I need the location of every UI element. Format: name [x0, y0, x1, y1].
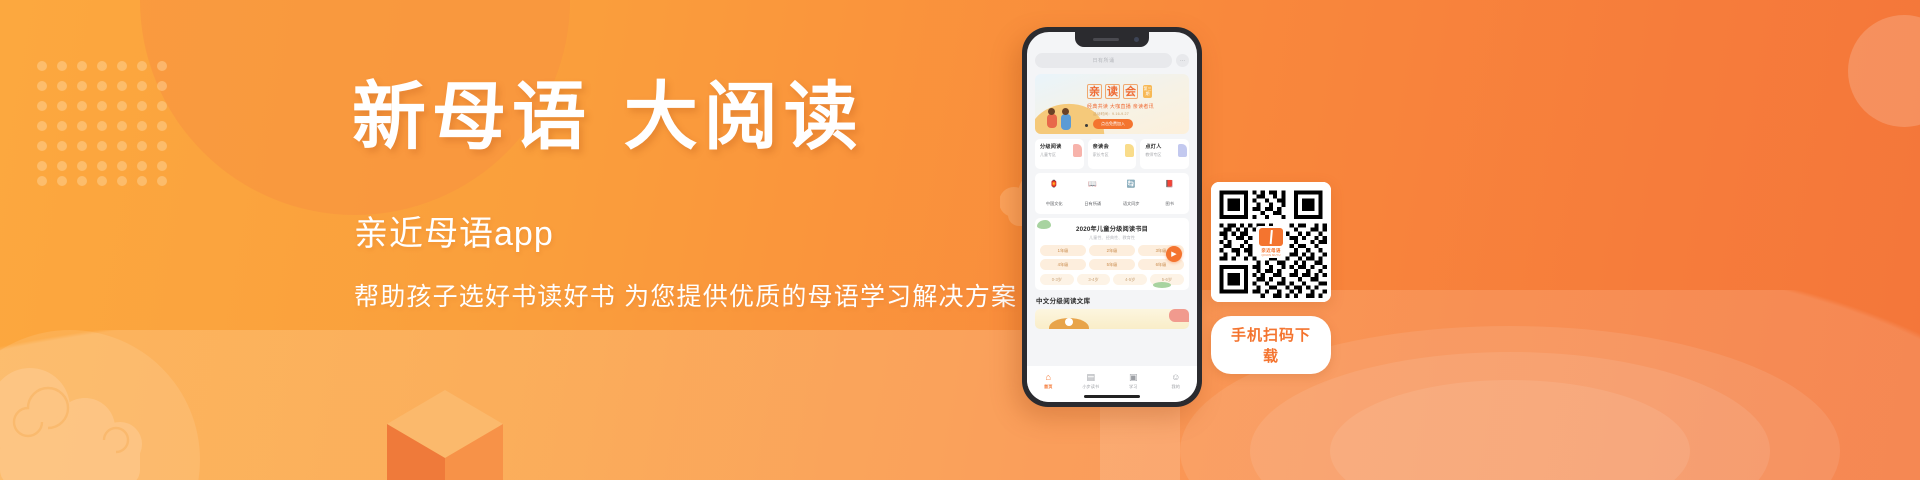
- search-input[interactable]: 日有所诵: [1035, 53, 1172, 68]
- books-icon: 📕: [1164, 178, 1176, 190]
- quick-link-label: 语文同步: [1123, 201, 1140, 206]
- promo-child2-illustration: [1061, 114, 1071, 130]
- tab-profile[interactable]: ☺ 我的: [1155, 372, 1198, 390]
- category-cards: 分级阅读 儿童专区 亲读会 家长专区 点灯人 教师专区: [1035, 139, 1189, 169]
- promo-title: 亲 读 会 第三期: [1087, 84, 1152, 99]
- promo-child2-head: [1062, 108, 1069, 115]
- decorative-cube: [385, 380, 505, 480]
- qr-block: 亲近母语 QINJIN MUYU 手机扫码下载: [1211, 182, 1331, 374]
- quick-link-label: 图书: [1166, 201, 1174, 206]
- decorative-circle-top-right: [1848, 15, 1920, 127]
- tab-reading[interactable]: ▤ 小步读书: [1070, 372, 1113, 390]
- leaf-decoration-icon-2: [1153, 282, 1171, 288]
- lantern-icon: 🏮: [1048, 178, 1060, 190]
- category-card-parent-club[interactable]: 亲读会 家长专区: [1088, 139, 1137, 169]
- clipboard-icon: ▣: [1112, 372, 1155, 383]
- booklist-title: 2020年儿童分级阅读书目: [1040, 224, 1184, 233]
- open-book-icon: [1259, 228, 1283, 246]
- quick-link-label: 日有所诵: [1084, 201, 1101, 206]
- quick-link-row: 🏮 中国文化 📖 日有所诵 🔄 语文同步 📕 图书: [1035, 173, 1189, 214]
- download-button[interactable]: 手机扫码下载: [1211, 316, 1331, 374]
- promo-join-button[interactable]: 点击免费加入: [1093, 119, 1133, 129]
- tab-label: 小步读书: [1070, 384, 1113, 390]
- category-card-graded-reading[interactable]: 分级阅读 儿童专区: [1035, 139, 1084, 169]
- age-chip[interactable]: 0-3岁: [1040, 274, 1074, 285]
- quick-link-daily-recitation[interactable]: 📖 日有所诵: [1074, 178, 1113, 210]
- copy-block: 新母语 大阅读 亲近母语app 帮助孩子选好书读好书 为您提供优质的母语学习解决…: [352, 78, 1052, 313]
- promo-ribbon-badge: 第三期: [1143, 85, 1152, 98]
- grade-chip[interactable]: 1年级: [1040, 245, 1086, 256]
- tab-label: 我的: [1155, 384, 1198, 390]
- brand-name-en: QINJIN MUYU: [1261, 254, 1280, 257]
- promo-banner: 新母语 大阅读 亲近母语app 帮助孩子选好书读好书 为您提供优质的母语学习解决…: [0, 0, 1920, 480]
- library-section: 中文分级阅读文库: [1035, 295, 1189, 329]
- more-icon[interactable]: ···: [1176, 54, 1189, 67]
- library-title: 中文分级阅读文库: [1035, 295, 1189, 305]
- decorative-circle-bottom-left: [0, 330, 200, 480]
- promo-title-char-2: 读: [1105, 84, 1120, 99]
- promo-bullet: [1085, 124, 1088, 127]
- grade-chip[interactable]: 4年级: [1040, 259, 1086, 270]
- grade-chip-group: 1年级 2年级 3年级 4年级 5年级 6年级 ▶: [1040, 245, 1184, 270]
- dot-grid-pattern: [36, 60, 172, 186]
- page-title: 新母语 大阅读: [352, 78, 1052, 158]
- promo-title-char-1: 亲: [1087, 84, 1102, 99]
- tab-study[interactable]: ▣ 学习: [1112, 372, 1155, 390]
- user-icon: ☺: [1155, 372, 1198, 383]
- quick-link-books[interactable]: 📕 图书: [1151, 178, 1190, 210]
- home-icon: ⌂: [1027, 372, 1070, 383]
- tab-label: 学习: [1112, 384, 1155, 390]
- phone-notch: [1075, 32, 1149, 47]
- promo-child-head: [1048, 108, 1055, 115]
- promo-child-illustration: [1047, 114, 1057, 128]
- tagline: 帮助孩子选好书读好书 为您提供优质的母语学习解决方案: [354, 277, 1052, 313]
- age-chip[interactable]: 3-4岁: [1077, 274, 1111, 285]
- quick-link-chinese-culture[interactable]: 🏮 中国文化: [1035, 178, 1074, 210]
- leaf-decoration-icon: [1037, 220, 1051, 229]
- promo-subtitle: 经典共读 大咖直播 亲读者讯: [1087, 103, 1154, 110]
- library-block-illustration: [1169, 309, 1189, 322]
- promo-card[interactable]: 亲 读 会 第三期 经典共读 大咖直播 亲读者讯 活动时间：9.16-9.27 …: [1035, 74, 1189, 134]
- phone-camera-icon: [1134, 37, 1139, 42]
- qr-code[interactable]: 亲近母语 QINJIN MUYU: [1211, 182, 1331, 302]
- booklist-subtitle: 儿童性、经典性、教育性: [1040, 235, 1184, 241]
- promo-title-char-3: 会: [1123, 84, 1138, 99]
- quick-link-sync-curriculum[interactable]: 🔄 语文同步: [1112, 178, 1151, 210]
- book-shape-icon: [1125, 144, 1134, 157]
- promo-date: 活动时间：9.16-9.27: [1093, 112, 1129, 117]
- tab-home[interactable]: ⌂ 首页: [1027, 372, 1070, 390]
- book-shape-icon: [1178, 144, 1187, 157]
- grade-chip[interactable]: 2年级: [1089, 245, 1135, 256]
- phone-mockup: 日有所诵 ··· 亲 读 会 第三期 经典共读: [1022, 27, 1202, 407]
- grade-chip[interactable]: 5年级: [1089, 259, 1135, 270]
- qr-center-logo: 亲近母语 QINJIN MUYU: [1256, 226, 1286, 258]
- play-video-button[interactable]: ▶: [1166, 246, 1182, 262]
- sync-icon: 🔄: [1125, 178, 1137, 190]
- age-chip[interactable]: 4-5岁: [1113, 274, 1147, 285]
- phone-speaker: [1093, 38, 1119, 41]
- app-name-subtitle: 亲近母语app: [354, 206, 1052, 255]
- app-search-bar: 日有所诵 ···: [1035, 53, 1189, 68]
- library-sun-illustration: [1065, 318, 1073, 326]
- auspicious-cloud-icon: [0, 356, 200, 480]
- category-card-teacher[interactable]: 点灯人 教师专区: [1140, 139, 1189, 169]
- booklist-section: 2020年儿童分级阅读书目 儿童性、经典性、教育性 1年级 2年级 3年级 4年…: [1035, 218, 1189, 290]
- library-card[interactable]: [1035, 309, 1189, 329]
- decorative-hill-left: [0, 330, 1180, 480]
- tab-label: 首页: [1027, 384, 1070, 390]
- app-screen: 日有所诵 ··· 亲 读 会 第三期 经典共读: [1027, 32, 1197, 402]
- quick-link-label: 中国文化: [1046, 201, 1063, 206]
- list-icon: ▤: [1070, 372, 1113, 383]
- book-shape-icon: [1073, 144, 1082, 157]
- search-placeholder: 日有所诵: [1092, 57, 1114, 64]
- book-icon: 📖: [1087, 178, 1099, 190]
- home-indicator: [1084, 395, 1140, 398]
